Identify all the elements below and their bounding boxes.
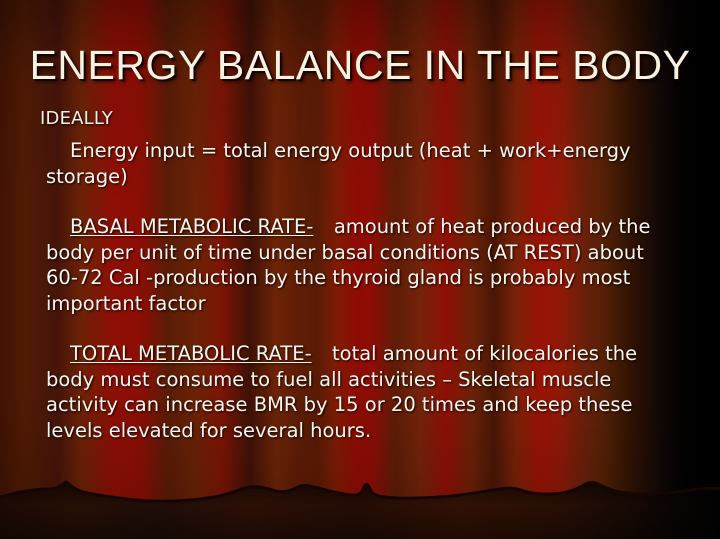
heading-gap	[312, 342, 332, 365]
heading-basal-metabolic-rate: BASAL METABOLIC RATE-	[70, 215, 313, 238]
heading-gap	[313, 215, 333, 238]
slide-title: ENERGY BALANCE IN THE BODY	[0, 42, 720, 89]
slide-subheading-ideally: IDEALLY	[40, 108, 113, 129]
slide-body: Energy input = total energy output (heat…	[46, 138, 676, 443]
heading-total-metabolic-rate: TOTAL METABOLIC RATE-	[70, 342, 312, 365]
paragraph-total-metabolic-rate: TOTAL METABOLIC RATE- total amount of ki…	[46, 341, 676, 443]
paragraph-basal-metabolic-rate: BASAL METABOLIC RATE- amount of heat pro…	[46, 214, 676, 316]
paragraph-equation-text: Energy input = total energy output (heat…	[46, 139, 631, 188]
paragraph-equation: Energy input = total energy output (heat…	[46, 138, 676, 189]
presentation-slide: ENERGY BALANCE IN THE BODY IDEALLY Energ…	[0, 0, 720, 539]
